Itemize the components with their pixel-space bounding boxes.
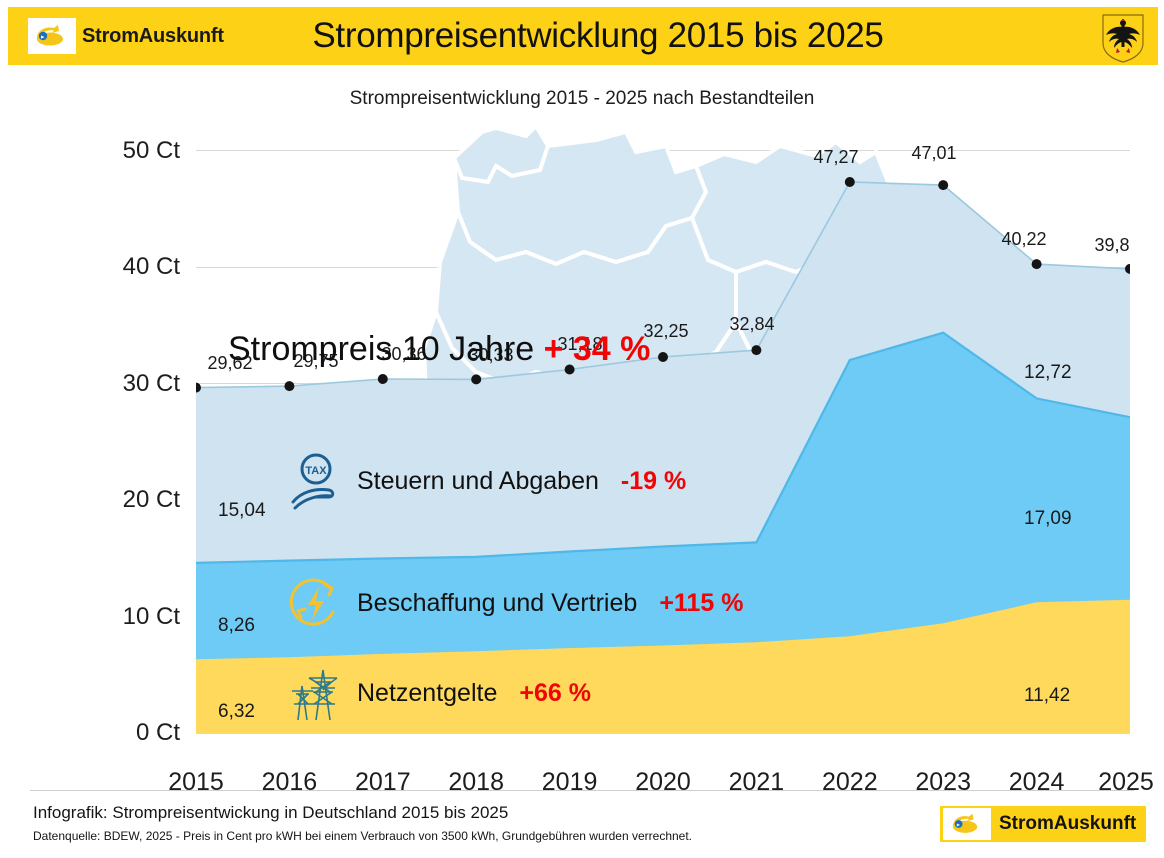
x-tick-2018: 2018 [448, 768, 504, 797]
headline-annotation: Strompreis 10 Jahre + 34 % [228, 330, 650, 369]
headline-percent: + 34 % [544, 330, 651, 368]
header-title: Strompreisentwicklung 2015 bis 2025 [8, 16, 1158, 56]
footer-source: Datenquelle: BDEW, 2025 - Preis in Cent … [33, 829, 692, 843]
german-federal-eagle-icon [1100, 13, 1146, 63]
energy-cycle-bolt-icon [285, 572, 347, 634]
tax-hand-icon: TAX [285, 450, 347, 512]
gridline-0 [196, 733, 1130, 734]
x-tick-2024: 2024 [1009, 768, 1065, 797]
x-tick-2015: 2015 [168, 768, 224, 797]
right-value-steuern: 12,72 [1024, 362, 1072, 384]
chart-title: Strompreisentwicklung 2015 - 2025 nach B… [0, 88, 1164, 110]
x-tick-2017: 2017 [355, 768, 411, 797]
legend-row-netzentgelte: Netzentgelte +66 % [285, 662, 591, 724]
left-value-beschaffung: 8,26 [218, 615, 255, 637]
data-label-2025: 39,8 [1094, 235, 1129, 256]
legend-label-netzentgelte: Netzentgelte [357, 679, 497, 708]
data-label-2023: 47,01 [911, 143, 956, 164]
headline-text: Strompreis 10 Jahre [228, 330, 534, 368]
power-pylon-icon [285, 662, 347, 724]
x-tick-2016: 2016 [262, 768, 318, 797]
infographic-page: StromAuskunft Strompreisentwicklung 2015… [0, 0, 1164, 858]
data-label-2022: 47,27 [813, 147, 858, 168]
x-tick-2020: 2020 [635, 768, 691, 797]
header-bar: StromAuskunft Strompreisentwicklung 2015… [8, 7, 1158, 65]
footer-logo-brand: StromAuskunft [999, 813, 1136, 835]
footer-logo-box [943, 808, 991, 840]
svg-text:TAX: TAX [305, 465, 327, 477]
legend-percent-netzentgelte: +66 % [519, 679, 591, 708]
y-tick-40: 40 Ct [60, 253, 180, 281]
stacked-area-chart [196, 150, 1130, 733]
left-value-netzentgelte: 6,32 [218, 701, 255, 723]
y-tick-50: 50 Ct [60, 137, 180, 165]
y-tick-0: 0 Ct [60, 719, 180, 747]
legend-row-beschaffung-und-vertrieb: Beschaffung und Vertrieb +115 % [285, 572, 743, 634]
y-tick-10: 10 Ct [60, 603, 180, 631]
footer-logo: StromAuskunft [940, 806, 1146, 842]
x-tick-2025: 2025 [1098, 768, 1154, 797]
x-tick-2023: 2023 [915, 768, 971, 797]
legend-row-steuern-und-abgaben: TAX Steuern und Abgaben -19 % [285, 450, 686, 512]
footer-divider [30, 790, 1134, 791]
y-tick-30: 30 Ct [60, 370, 180, 398]
y-tick-20: 20 Ct [60, 486, 180, 514]
right-value-netzentgelte: 11,42 [1024, 685, 1070, 707]
right-value-beschaffung: 17,09 [1024, 508, 1072, 530]
x-tick-2021: 2021 [729, 768, 785, 797]
stromauskunft-swirl-icon [947, 811, 987, 837]
footer-title: Infografik: Strompreisentwickung in Deut… [33, 803, 508, 823]
legend-label-steuern: Steuern und Abgaben [357, 467, 599, 496]
legend-label-beschaffung: Beschaffung und Vertrieb [357, 589, 637, 618]
x-tick-2022: 2022 [822, 768, 878, 797]
left-value-steuern: 15,04 [218, 500, 266, 522]
data-label-2024: 40,22 [1001, 229, 1046, 250]
chart-container: 50 Ct 40 Ct 30 Ct 20 Ct 10 Ct 0 Ct [0, 120, 1164, 780]
plot-area: 29,62 29,75 30,36 30,33 31,18 32,25 32,8… [196, 150, 1130, 733]
legend-percent-steuern: -19 % [621, 467, 686, 496]
data-label-2021: 32,84 [729, 314, 774, 335]
x-tick-2019: 2019 [542, 768, 598, 797]
legend-percent-beschaffung: +115 % [659, 589, 743, 618]
